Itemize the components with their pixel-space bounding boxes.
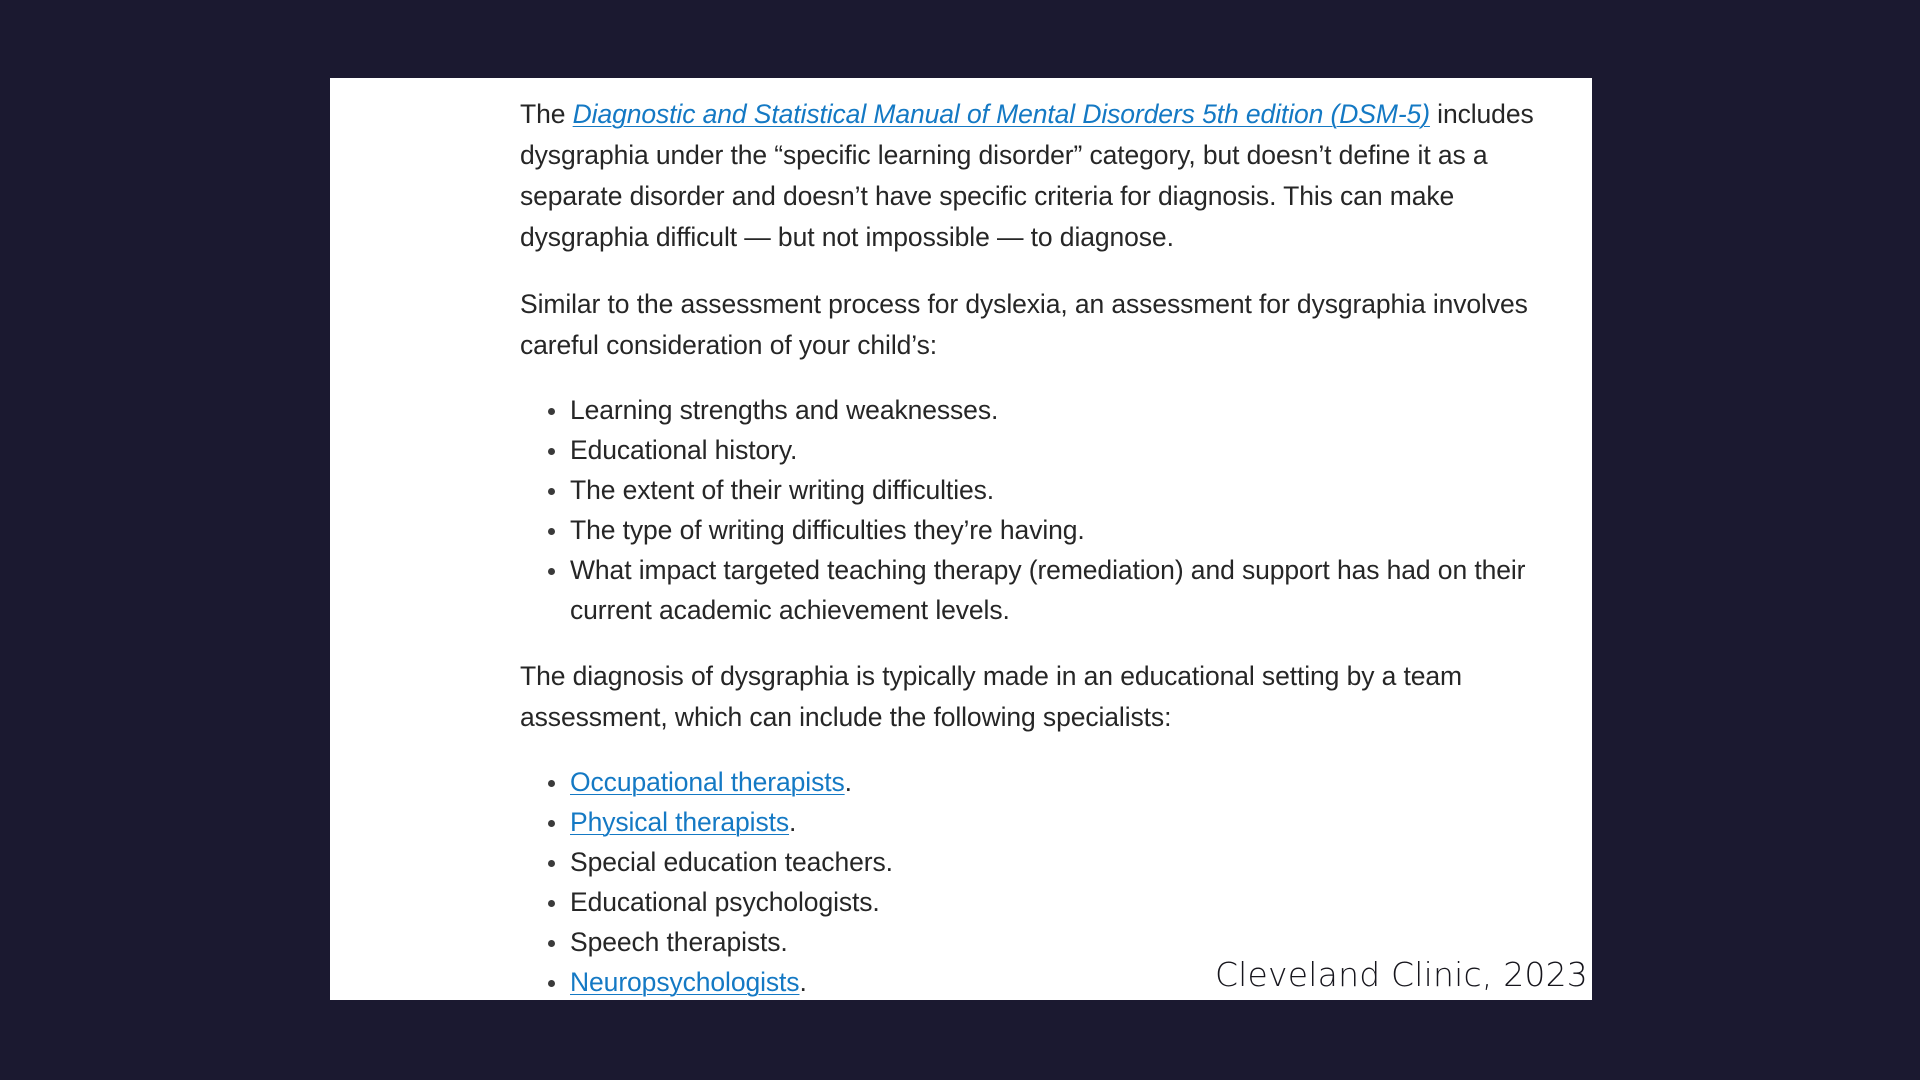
neuropsychologists-link[interactable]: Neuropsychologists bbox=[570, 967, 799, 997]
list-item: Occupational therapists. bbox=[546, 762, 1555, 802]
paragraph-assessment-intro: Similar to the assessment process for dy… bbox=[520, 284, 1555, 366]
physical-therapists-link[interactable]: Physical therapists bbox=[570, 807, 789, 837]
paragraph-dsm5-lead: The bbox=[520, 99, 573, 129]
list-item: Educational psychologists. bbox=[546, 882, 1555, 922]
list-item-tail: . bbox=[799, 967, 806, 997]
paragraph-diagnosis-team: The diagnosis of dysgraphia is typically… bbox=[520, 656, 1555, 738]
list-item: Special education teachers. bbox=[546, 842, 1555, 882]
list-item: Learning strengths and weaknesses. bbox=[546, 390, 1555, 430]
list-item: What impact targeted teaching therapy (r… bbox=[546, 550, 1555, 630]
occupational-therapists-link[interactable]: Occupational therapists bbox=[570, 767, 845, 797]
list-item: Educational history. bbox=[546, 430, 1555, 470]
list-item-tail: . bbox=[845, 767, 852, 797]
list-item: Physical therapists. bbox=[546, 802, 1555, 842]
list-item: The extent of their writing difficulties… bbox=[546, 470, 1555, 510]
source-attribution: Cleveland Clinic, 2023 bbox=[1215, 952, 1588, 998]
list-item: The type of writing difficulties they’re… bbox=[546, 510, 1555, 550]
content-card: The Diagnostic and Statistical Manual of… bbox=[330, 78, 1592, 1000]
dsm5-link[interactable]: Diagnostic and Statistical Manual of Men… bbox=[573, 99, 1430, 129]
slide-canvas: The Diagnostic and Statistical Manual of… bbox=[0, 0, 1920, 1080]
article-body: The Diagnostic and Statistical Manual of… bbox=[520, 94, 1555, 1000]
paragraph-dsm5: The Diagnostic and Statistical Manual of… bbox=[520, 94, 1555, 258]
list-item-tail: . bbox=[789, 807, 796, 837]
assessment-considerations-list: Learning strengths and weaknesses. Educa… bbox=[520, 390, 1555, 630]
